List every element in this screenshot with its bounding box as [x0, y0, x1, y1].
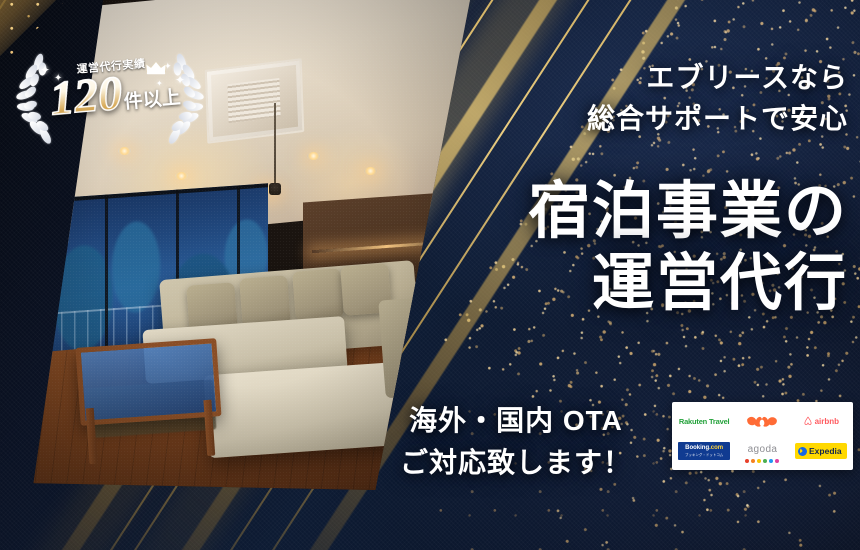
expedia-plane-icon [798, 447, 807, 456]
booking-com-wordmark: Booking.com ブッキング・ドットコム [678, 442, 730, 460]
logo-rakuten-travel: Rakuten Travel [675, 406, 733, 436]
headline-line-2: 運営代行 [470, 248, 848, 320]
ota-logo-panel: Rakuten Travel airbnb Booking.com ブッキング・… [672, 402, 853, 470]
logo-expedia: Expedia [792, 436, 850, 466]
downlight-2 [175, 172, 188, 180]
ceiling-air-conditioner [205, 58, 304, 143]
left-line-2 [0, 0, 11, 550]
downlight-1 [118, 147, 131, 155]
badge-suffix: 件以上 [123, 87, 182, 113]
agoda-wordmark: agoda [748, 444, 778, 455]
downlight-4 [364, 167, 377, 175]
jalan-icon [745, 414, 779, 429]
airbnb-wordmark: airbnb [815, 417, 839, 426]
ota-copy: 海外・国内 OTA ご対応致します！ [372, 400, 660, 484]
badge-number: 120 [48, 66, 124, 125]
agoda-dots-icon [745, 459, 779, 463]
pendant-lamp [274, 103, 276, 186]
cushion-3 [292, 268, 344, 321]
logo-jalan [733, 406, 791, 436]
subheadline-line-2: 総合サポートで安心 [548, 99, 848, 140]
airbnb-icon [803, 416, 813, 426]
headline: 宿泊事業の 運営代行 [470, 176, 848, 320]
sofa-armrest [378, 297, 425, 398]
award-badge: ✦ ✦ ✦ ✦ ✦ 運営代行実績 120件以上 [14, 52, 206, 148]
subheadline: エブリースなら 総合サポートで安心 [548, 58, 848, 139]
booking-label: Booking [685, 445, 709, 451]
coffee-table [76, 338, 222, 426]
rakuten-travel-wordmark: Rakuten Travel [679, 417, 730, 426]
promo-banner: ✦ ✦ ✦ ✦ ✦ 運営代行実績 120件以上 エブリースなら 総合サポートで安… [0, 0, 860, 550]
ota-copy-line-2: ご対応致します！ [372, 442, 660, 484]
table-glass-top [76, 338, 222, 426]
logo-agoda: agoda [733, 436, 791, 466]
headline-line-1: 宿泊事業の [470, 176, 848, 248]
downlight-3 [307, 152, 320, 160]
booking-label-com: .com [709, 445, 723, 451]
expedia-wordmark: Expedia [809, 446, 842, 456]
subheadline-line-1: エブリースなら [548, 58, 848, 99]
logo-booking-com: Booking.com ブッキング・ドットコム [675, 436, 733, 466]
booking-tagline: ブッキング・ドットコム [682, 453, 726, 457]
ota-copy-line-1: 海外・国内 OTA [372, 400, 660, 442]
logo-airbnb: airbnb [792, 406, 850, 436]
